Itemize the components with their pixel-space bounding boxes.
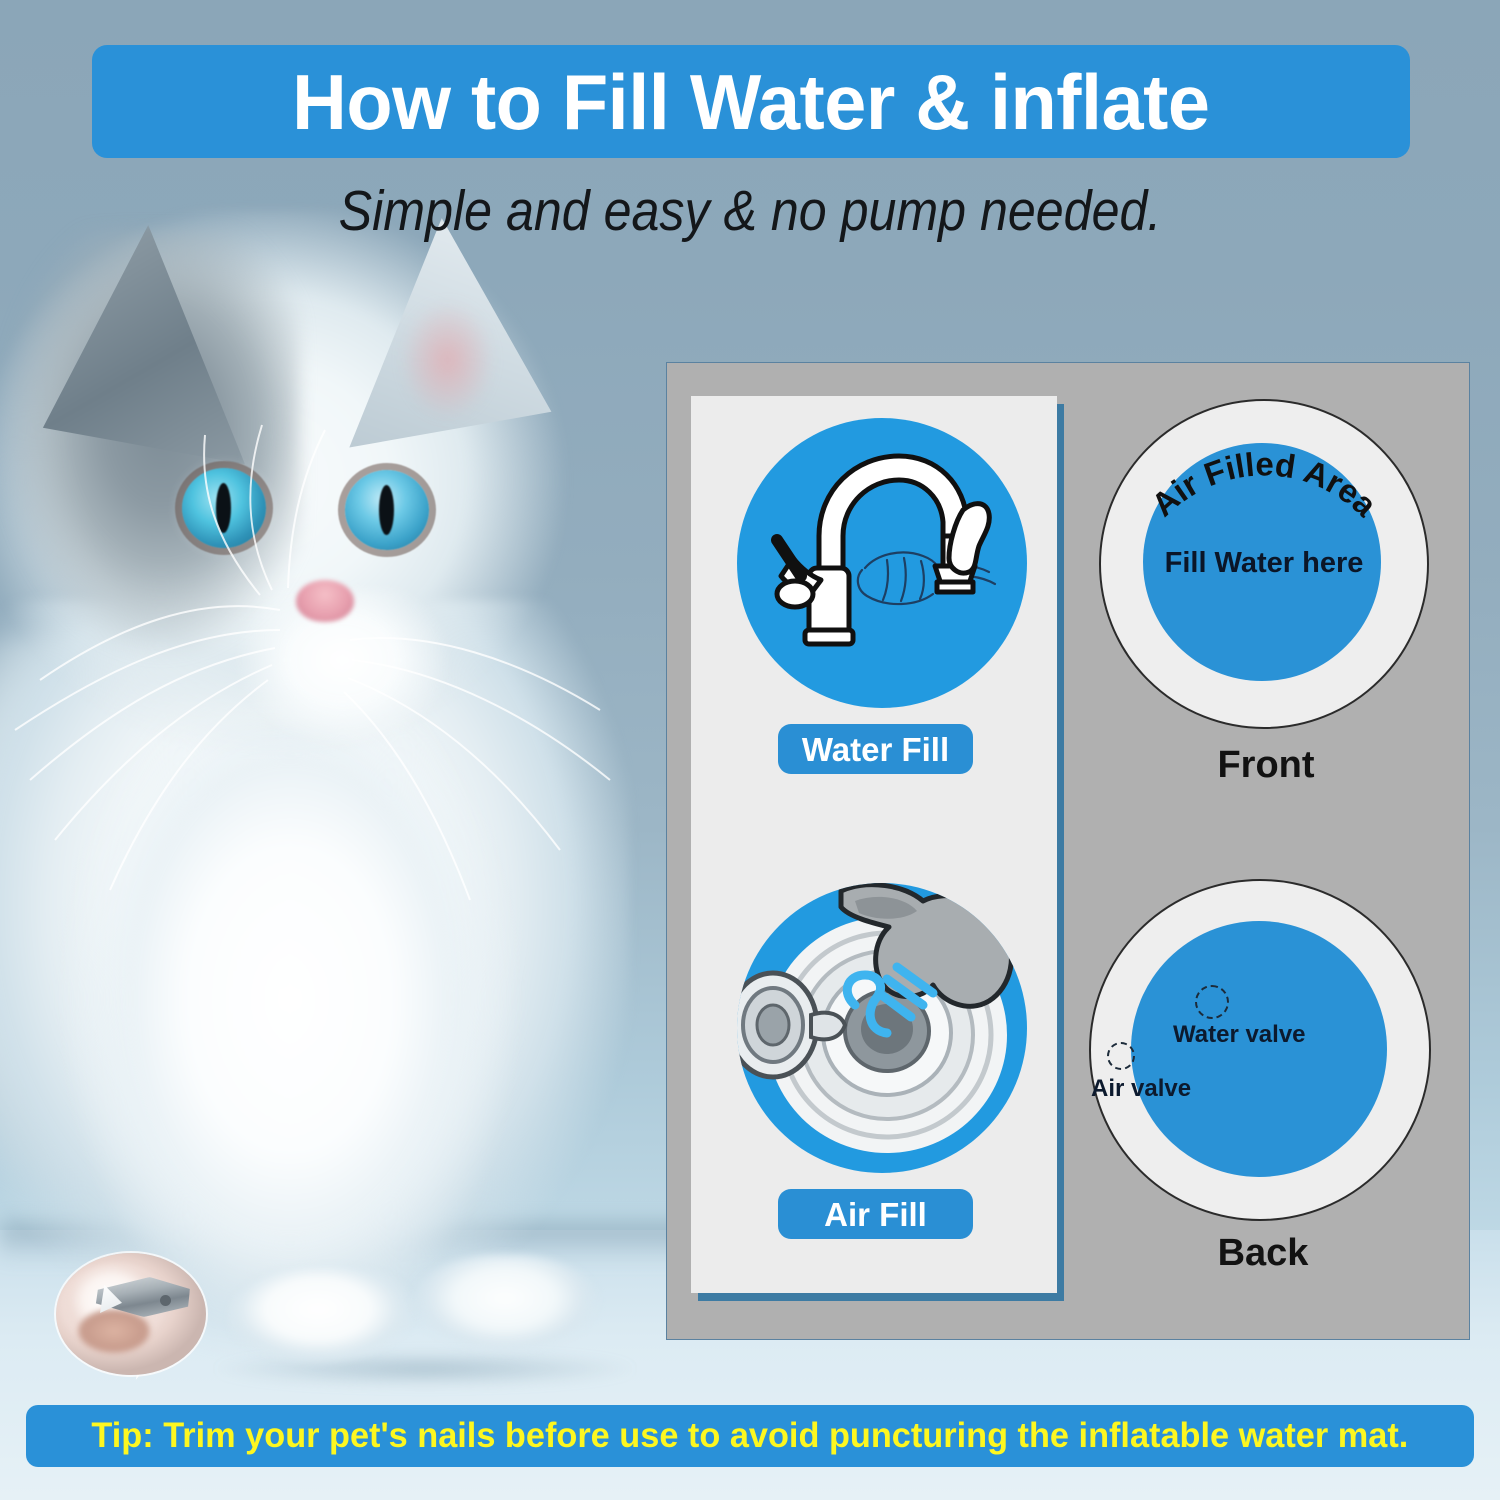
fill-water-here-label: Fill Water here bbox=[1099, 547, 1429, 580]
valve-blow-icon bbox=[737, 883, 1027, 1173]
instruction-diagram-panel: Water Fill bbox=[666, 362, 1470, 1340]
water-fill-illustration bbox=[737, 418, 1027, 708]
back-view-diagram: Water valve Air valve Back bbox=[1083, 879, 1443, 1299]
back-caption: Back bbox=[1083, 1232, 1443, 1275]
arc-label-text: Air Filled Area bbox=[1144, 445, 1384, 523]
back-disc-inner bbox=[1131, 921, 1387, 1177]
clipper-pivot-hole bbox=[160, 1295, 171, 1306]
air-fill-illustration bbox=[737, 883, 1027, 1173]
cat-paw-left bbox=[228, 1265, 428, 1375]
water-fill-label: Water Fill bbox=[778, 724, 973, 774]
svg-text:Air Filled Area: Air Filled Area bbox=[1144, 445, 1384, 523]
air-fill-label: Air Fill bbox=[778, 1189, 973, 1239]
air-valve-marker-icon bbox=[1107, 1042, 1135, 1070]
tip-banner: Tip: Trim your pet's nails before use to… bbox=[26, 1405, 1474, 1467]
cat-whiskers bbox=[0, 380, 700, 1180]
water-valve-label: Water valve bbox=[1173, 1021, 1306, 1049]
front-view-diagram: Air Filled Area Fill Water here Front bbox=[1091, 399, 1441, 809]
faucet-icon bbox=[737, 418, 1027, 708]
tip-text: Tip: Trim your pet's nails before use to… bbox=[92, 1416, 1409, 1456]
nail-clipper-inset-photo bbox=[56, 1253, 206, 1375]
water-valve-marker-icon bbox=[1195, 985, 1229, 1019]
page-subtitle: Simple and easy & no pump needed. bbox=[90, 178, 1410, 244]
page-title: How to Fill Water & inflate bbox=[292, 63, 1209, 141]
front-caption: Front bbox=[1091, 744, 1441, 787]
steps-card: Water Fill bbox=[691, 396, 1057, 1293]
title-banner: How to Fill Water & inflate bbox=[92, 45, 1410, 158]
cat-paw-right bbox=[410, 1255, 600, 1363]
air-valve-label: Air valve bbox=[1091, 1075, 1191, 1103]
